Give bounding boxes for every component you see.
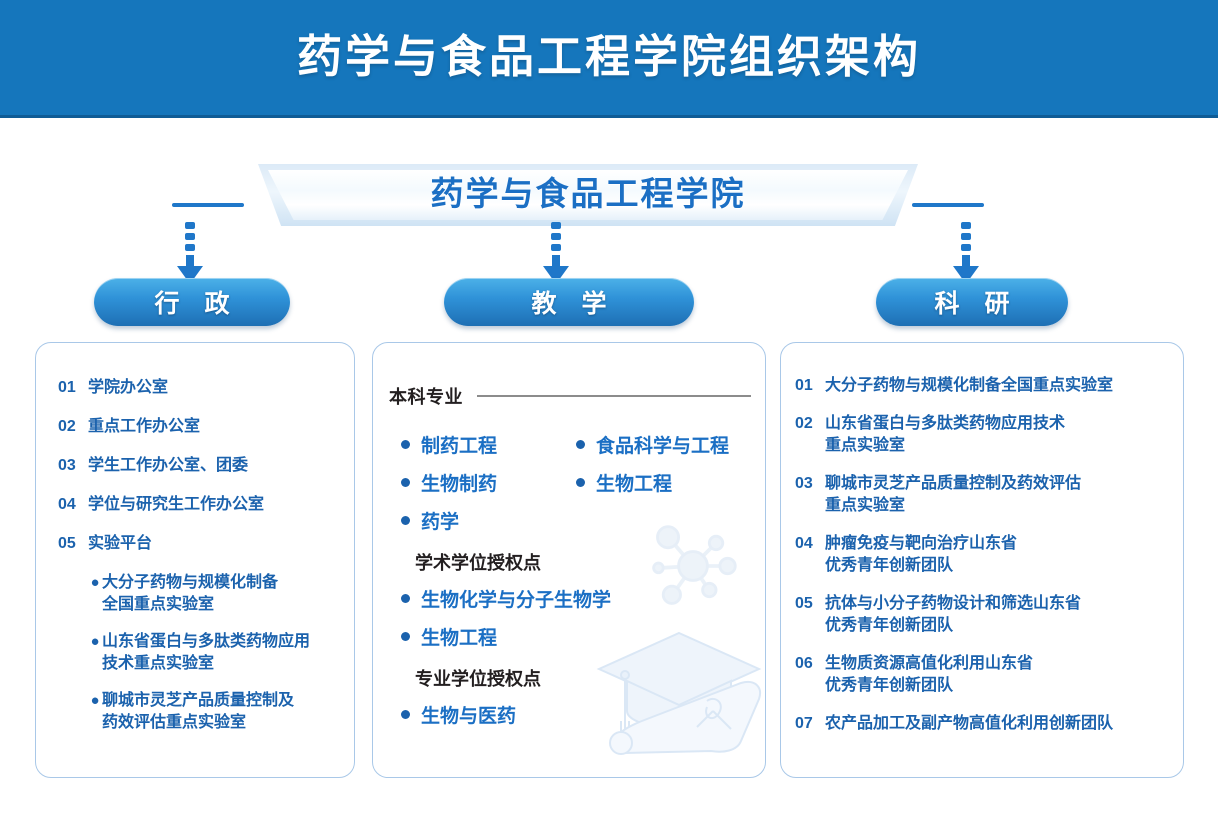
major-label: 制药工程: [421, 431, 497, 458]
bullet-icon: [401, 594, 410, 603]
connector-dot: [961, 233, 971, 240]
bullet-icon: [401, 478, 410, 487]
item-label: 学生工作办公室、团委: [88, 455, 248, 477]
connector-stub-right: [912, 203, 984, 207]
degree-label: 生物与医药: [421, 701, 516, 728]
item-number: 01: [795, 375, 825, 397]
degree-label: 生物工程: [421, 623, 497, 650]
bullet-icon: [576, 440, 585, 449]
branch-button-teaching[interactable]: 教 学: [444, 278, 694, 326]
platform-list-item: ● 山东省蛋白与多肽类药物应用 技术重点实验室: [58, 631, 344, 675]
bullet-icon: [401, 440, 410, 449]
undergrad-section-header: 本科专业: [389, 383, 751, 409]
connector-dot: [551, 244, 561, 251]
connector-dot: [551, 233, 561, 240]
page-title: 药学与食品工程学院组织架构: [0, 28, 1218, 86]
item-label: 农产品加工及副产物高值化利用创新团队: [825, 713, 1113, 735]
platform-list-item: ● 大分子药物与规模化制备 全国重点实验室: [58, 572, 344, 616]
item-label: 重点工作办公室: [88, 416, 200, 438]
connector-dot: [185, 222, 195, 229]
branch-label-research: 科 研: [926, 284, 1019, 320]
item-number: 06: [795, 653, 825, 675]
item-number: 04: [58, 494, 88, 516]
item-label: 实验平台: [88, 533, 152, 555]
academic-degree-heading: 学术学位授权点: [389, 549, 751, 575]
item-number: 03: [58, 455, 88, 477]
item-label: 学位与研究生工作办公室: [88, 494, 264, 516]
list-item: 04 学位与研究生工作办公室: [58, 494, 344, 516]
list-item: 01 学院办公室: [58, 377, 344, 399]
list-item: 07 农产品加工及副产物高值化利用创新团队: [795, 713, 1175, 735]
item-label: 肿瘤免疫与靶向治疗山东省 优秀青年创新团队: [825, 533, 1017, 577]
degree-label: 生物化学与分子生物学: [421, 585, 611, 612]
degree-item: 生物化学与分子生物学: [389, 579, 751, 617]
connector-dot: [185, 244, 195, 251]
research-item-list: 01 大分子药物与规模化制备全国重点实验室 02 山东省蛋白与多肽类药物应用技术…: [795, 375, 1175, 751]
bullet-icon: [576, 478, 585, 487]
connector-dot: [961, 244, 971, 251]
list-item: 01 大分子药物与规模化制备全国重点实验室: [795, 375, 1175, 397]
major-item: 药学: [389, 501, 564, 539]
item-number: 02: [58, 416, 88, 438]
undergrad-heading: 本科专业: [389, 383, 463, 409]
teaching-card: 本科专业 制药工程 食品科学与工程 生物制药 生物工程: [372, 342, 766, 778]
item-number: 05: [795, 593, 825, 615]
item-label: 学院办公室: [88, 377, 168, 399]
bullet-icon: [401, 632, 410, 641]
list-item: 04 肿瘤免疫与靶向治疗山东省 优秀青年创新团队: [795, 533, 1175, 577]
list-item: 05 实验平台: [58, 533, 344, 555]
org-chart-page: 药学与食品工程学院组织架构 药学与食品工程学院 行 政 教 学 科 研: [0, 0, 1218, 828]
admin-card: 01 学院办公室 02 重点工作办公室 03 学生工作办公室、团委 04 学位与…: [35, 342, 355, 778]
grid-spacer: [564, 501, 751, 539]
platform-list-item: ● 聊城市灵芝产品质量控制及 药效评估重点实验室: [58, 690, 344, 734]
item-label: 生物质资源高值化利用山东省 优秀青年创新团队: [825, 653, 1033, 697]
item-label: 聊城市灵芝产品质量控制及药效评估 重点实验室: [825, 473, 1081, 517]
major-item: 制药工程: [389, 425, 564, 463]
major-item: 生物制药: [389, 463, 564, 501]
list-item: 06 生物质资源高值化利用山东省 优秀青年创新团队: [795, 653, 1175, 697]
branch-label-teaching: 教 学: [523, 284, 616, 320]
item-label: 抗体与小分子药物设计和筛选山东省 优秀青年创新团队: [825, 593, 1081, 637]
professional-degree-heading: 专业学位授权点: [389, 665, 751, 691]
major-label: 食品科学与工程: [596, 431, 729, 458]
connector-dot: [185, 233, 195, 240]
item-number: 02: [795, 413, 825, 435]
platform-label: 大分子药物与规模化制备 全国重点实验室: [102, 572, 278, 616]
list-item: 02 山东省蛋白与多肽类药物应用技术 重点实验室: [795, 413, 1175, 457]
item-number: 05: [58, 533, 88, 555]
branch-label-admin: 行 政: [146, 284, 239, 320]
degree-item: 生物与医药: [389, 695, 751, 733]
root-node-label: 药学与食品工程学院: [258, 172, 918, 216]
list-item: 02 重点工作办公室: [58, 416, 344, 438]
header-band: 药学与食品工程学院组织架构: [0, 0, 1218, 118]
list-item: 03 学生工作办公室、团委: [58, 455, 344, 477]
teaching-content: 本科专业 制药工程 食品科学与工程 生物制药 生物工程: [389, 383, 751, 733]
bullet-icon: ●: [88, 690, 102, 712]
root-node: 药学与食品工程学院: [258, 164, 918, 226]
admin-item-list: 01 学院办公室 02 重点工作办公室 03 学生工作办公室、团委 04 学位与…: [58, 377, 344, 749]
item-number: 04: [795, 533, 825, 555]
connector-arrow-teaching: [543, 222, 569, 284]
connector-dot: [551, 222, 561, 229]
connector-arrow-admin: [177, 222, 203, 284]
major-item: 生物工程: [564, 463, 751, 501]
major-label: 生物工程: [596, 469, 672, 496]
degree-item: 生物工程: [389, 617, 751, 655]
list-item: 05 抗体与小分子药物设计和筛选山东省 优秀青年创新团队: [795, 593, 1175, 637]
bullet-icon: [401, 710, 410, 719]
connector-stub-left: [172, 203, 244, 207]
bullet-icon: [401, 516, 410, 525]
bullet-icon: ●: [88, 631, 102, 653]
bullet-icon: ●: [88, 572, 102, 594]
major-item: 食品科学与工程: [564, 425, 751, 463]
major-label: 药学: [421, 507, 459, 534]
item-number: 01: [58, 377, 88, 399]
research-card: 01 大分子药物与规模化制备全国重点实验室 02 山东省蛋白与多肽类药物应用技术…: [780, 342, 1184, 778]
major-label: 生物制药: [421, 469, 497, 496]
item-label: 大分子药物与规模化制备全国重点实验室: [825, 375, 1113, 397]
undergrad-major-grid: 制药工程 食品科学与工程 生物制药 生物工程 药学: [389, 425, 751, 539]
branch-button-admin[interactable]: 行 政: [94, 278, 290, 326]
platform-label: 聊城市灵芝产品质量控制及 药效评估重点实验室: [102, 690, 294, 734]
section-divider: [477, 395, 751, 397]
platform-label: 山东省蛋白与多肽类药物应用 技术重点实验室: [102, 631, 310, 675]
list-item: 03 聊城市灵芝产品质量控制及药效评估 重点实验室: [795, 473, 1175, 517]
branch-button-research[interactable]: 科 研: [876, 278, 1068, 326]
item-label: 山东省蛋白与多肽类药物应用技术 重点实验室: [825, 413, 1065, 457]
item-number: 03: [795, 473, 825, 495]
connector-dot: [961, 222, 971, 229]
connector-arrow-research: [953, 222, 979, 284]
item-number: 07: [795, 713, 825, 735]
